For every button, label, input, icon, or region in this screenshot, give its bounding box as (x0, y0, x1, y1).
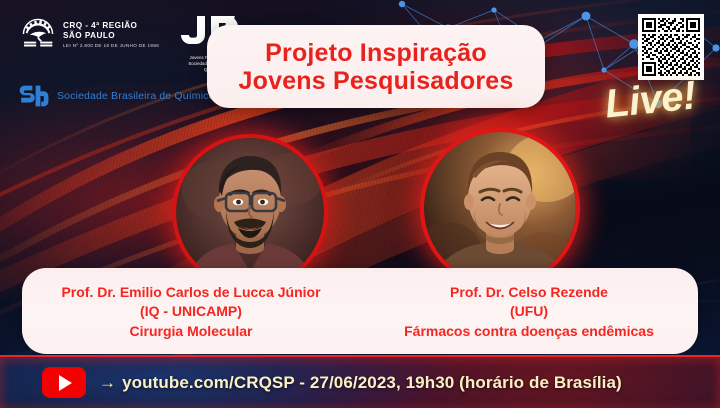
speaker-institution: (UFU) (510, 302, 548, 321)
play-triangle-icon (59, 375, 72, 391)
footer-text-row: →youtube.com/CRQSP - 27/06/2023, 19h30 (… (99, 373, 622, 393)
speaker-name: Prof. Dr. Celso Rezende (450, 283, 608, 302)
speaker-institution: (IQ - UNICAMP) (140, 302, 242, 321)
title-line1: Projeto Inspiração (265, 39, 487, 67)
live-badge: Live! (603, 73, 698, 127)
title-card: Projeto Inspiração Jovens Pesquisadores (207, 25, 545, 108)
footer-link-text[interactable]: youtube.com/CRQSP - 27/06/2023, 19h30 (h… (122, 373, 622, 392)
sbq-monogram-icon (18, 84, 50, 108)
arrow-icon: → (99, 373, 116, 392)
crq-line2: SÃO PAULO (63, 31, 159, 41)
sbq-label: Sociedade Brasileira de Química (57, 90, 215, 102)
speaker-photo-emilio (176, 138, 324, 286)
speaker-topic: Cirurgia Molecular (130, 322, 253, 341)
speaker-photo-celso (424, 132, 576, 284)
title-line2: Jovens Pesquisadores (239, 67, 514, 95)
sbq-logo: Sociedade Brasileira de Química (18, 84, 223, 108)
youtube-play-icon[interactable] (42, 367, 86, 398)
crq-emblem-icon (18, 14, 58, 54)
crq-law-text: LEI Nº 2.800 DE 18 DE JUNHO DE 1956 (63, 43, 159, 48)
poster-root: CRQ - 4ª REGIÃO SÃO PAULO LEI Nº 2.800 D… (0, 0, 720, 408)
qr-code-icon[interactable] (638, 14, 704, 80)
speaker-name: Prof. Dr. Emilio Carlos de Lucca Júnior (61, 283, 320, 302)
speaker-topic: Fármacos contra doenças endêmicas (404, 322, 654, 341)
speaker-block-1: Prof. Dr. Emilio Carlos de Lucca Júnior … (22, 268, 360, 354)
crq-logo: CRQ - 4ª REGIÃO SÃO PAULO LEI Nº 2.800 D… (18, 14, 159, 54)
header-logos: CRQ - 4ª REGIÃO SÃO PAULO LEI Nº 2.800 D… (18, 14, 223, 109)
footer-bar: →youtube.com/CRQSP - 27/06/2023, 19h30 (… (0, 355, 720, 408)
speakers-card: Prof. Dr. Emilio Carlos de Lucca Júnior … (22, 268, 698, 354)
speaker-block-2: Prof. Dr. Celso Rezende (UFU) Fármacos c… (360, 268, 698, 354)
crq-line1: CRQ - 4ª REGIÃO (63, 21, 159, 31)
